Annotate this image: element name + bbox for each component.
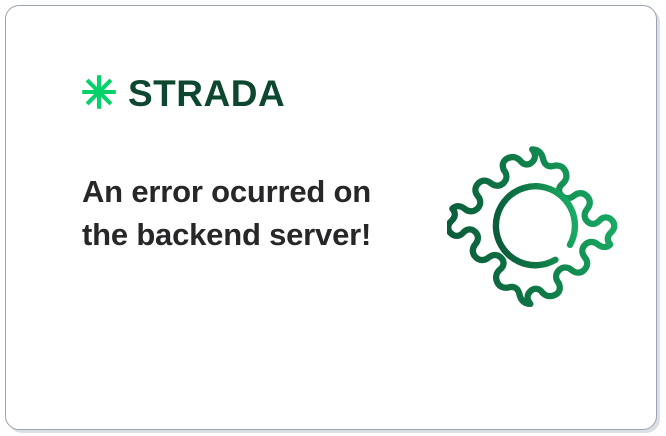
gear-outer-ring xyxy=(448,149,614,304)
screenshot-root: STRADA An error ocurred on the backend s… xyxy=(0,0,666,436)
gear-inner-arc xyxy=(496,186,575,265)
error-card: STRADA An error ocurred on the backend s… xyxy=(5,5,657,430)
brand-wordmark: STRADA xyxy=(128,75,285,112)
strada-asterisk-icon xyxy=(79,72,119,112)
brand-lockup: STRADA xyxy=(79,72,285,112)
error-headline: An error ocurred on the backend server! xyxy=(82,170,382,256)
